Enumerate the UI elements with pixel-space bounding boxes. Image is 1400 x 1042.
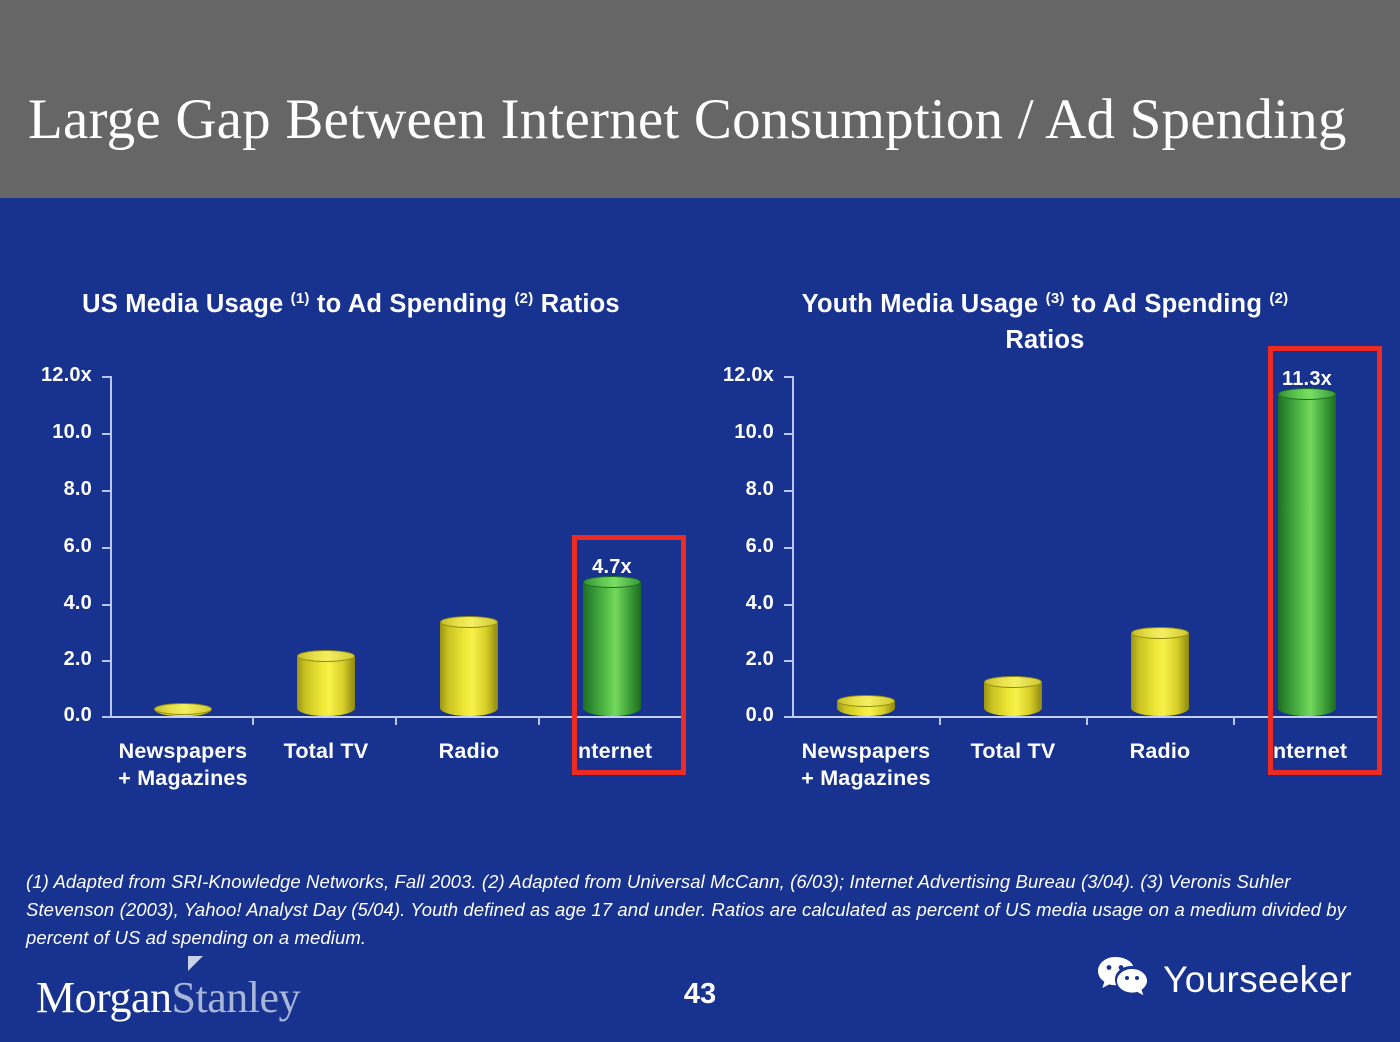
yourseeker-watermark: Yourseeker	[1096, 955, 1352, 1004]
x-tick-2	[1086, 716, 1088, 725]
y-tick-label-6: 6.0	[688, 535, 774, 558]
y-tick-label-0: 0.0	[6, 704, 92, 727]
bar-cap	[1131, 627, 1189, 639]
y-tick-label-10: 10.0	[6, 421, 92, 444]
y-tick-4	[102, 604, 111, 606]
chart-us-media-usage: US Media Usage (1) to Ad Spending (2) Ra…	[6, 198, 696, 818]
y-tick-6	[784, 547, 793, 549]
y-tick-6	[102, 547, 111, 549]
chart-youth-media-usage: Youth Media Usage (3) to Ad Spending (2)…	[700, 198, 1390, 818]
bar-newspapers-magazines	[837, 701, 895, 716]
y-tick-label-10: 10.0	[688, 421, 774, 444]
y-tick-2	[784, 660, 793, 662]
morgan-stanley-logo: MorganStanley	[36, 972, 300, 1020]
y-tick-12	[102, 376, 111, 378]
y-tick-label-12: 12.0x	[688, 364, 774, 387]
y-tick-10	[102, 433, 111, 435]
bar-cap	[984, 676, 1042, 688]
x-label-line-2: + Magazines	[83, 765, 283, 792]
chart-title-left-footnote-2: (2)	[514, 290, 533, 307]
bar-body	[1131, 633, 1189, 716]
x-tick-1	[252, 716, 254, 725]
y-tick-label-4: 4.0	[6, 592, 92, 615]
footnote-text: (1) Adapted from SRI-Knowledge Networks,…	[26, 868, 1376, 952]
chart-title-right-part-a: Youth Media Usage	[802, 290, 1039, 318]
watermark-label: Yourseeker	[1163, 959, 1352, 1001]
chart-title-right-part-b: to Ad Spending	[1072, 290, 1262, 318]
chart-title-right-footnote-3: (3)	[1046, 290, 1065, 307]
bar-total-tv	[297, 656, 355, 716]
chart-title-left-part-c: Ratios	[541, 290, 620, 318]
y-tick-8	[102, 490, 111, 492]
bar-radio	[440, 622, 498, 716]
y-tick-label-2: 2.0	[688, 648, 774, 671]
y-tick-label-0: 0.0	[688, 704, 774, 727]
bar-cap	[297, 650, 355, 662]
y-tick-label-6: 6.0	[6, 535, 92, 558]
wechat-icon	[1096, 955, 1150, 1004]
logo-morgan-text: Morgan	[36, 973, 172, 1022]
y-tick-label-8: 8.0	[688, 478, 774, 501]
bar-cap	[837, 695, 895, 707]
bar-total-tv	[984, 682, 1042, 716]
bar-cap	[440, 616, 498, 628]
y-tick-10	[784, 433, 793, 435]
y-tick-8	[784, 490, 793, 492]
y-tick-12	[784, 376, 793, 378]
bar-newspapers-magazines	[154, 709, 212, 716]
chart-title-right-footnote-2: (2)	[1269, 290, 1288, 307]
logo-stanley-text: Stanley	[172, 973, 300, 1022]
bar-body	[440, 622, 498, 716]
chart-title-left: US Media Usage (1) to Ad Spending (2) Ra…	[6, 286, 696, 322]
y-tick-label-12: 12.0x	[6, 364, 92, 387]
chart-title-left-part-b: to Ad Spending	[317, 290, 507, 318]
highlight-box-internet	[1268, 346, 1382, 775]
y-tick-label-2: 2.0	[6, 648, 92, 671]
x-tick-3	[1233, 716, 1235, 725]
slide-body: US Media Usage (1) to Ad Spending (2) Ra…	[0, 198, 1400, 1042]
chart-title-left-part-a: US Media Usage	[82, 290, 283, 318]
y-tick-0	[102, 716, 111, 718]
y-tick-4	[784, 604, 793, 606]
morgan-stanley-triangle-icon	[188, 956, 203, 971]
page-title: Large Gap Between Internet Consumption /…	[28, 88, 1378, 152]
bar-body	[297, 656, 355, 716]
bar-cap	[154, 703, 212, 715]
y-tick-label-8: 8.0	[6, 478, 92, 501]
highlight-box-internet	[572, 535, 686, 775]
bar-radio	[1131, 633, 1189, 716]
x-tick-3	[538, 716, 540, 725]
x-label-line-2: + Magazines	[766, 765, 966, 792]
slide-root: Large Gap Between Internet Consumption /…	[0, 0, 1400, 1042]
y-tick-label-4: 4.0	[688, 592, 774, 615]
page-number: 43	[650, 978, 750, 1011]
y-tick-0	[784, 716, 793, 718]
chart-title-left-footnote-1: (1)	[291, 290, 310, 307]
y-tick-2	[102, 660, 111, 662]
x-tick-1	[939, 716, 941, 725]
x-tick-2	[395, 716, 397, 725]
chart-title-right-part-c: Ratios	[1005, 326, 1084, 354]
